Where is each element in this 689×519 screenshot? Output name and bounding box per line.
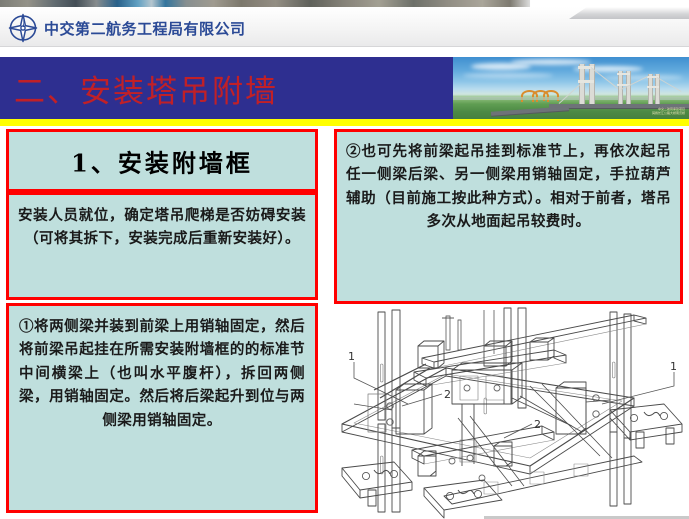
pylon-crossbeam <box>617 73 630 75</box>
company-header-band: 中交第二航务工程局有限公司 <box>0 7 689 47</box>
tower-crane-wall-attachment-diagram: 1 1 2 2 <box>334 306 689 519</box>
preparation-note-panel: 安装人员就位，确定塔吊爬梯是否妨碍安装（可将其拆下，安装完成后重新安装好）。 <box>6 192 318 300</box>
bridge-approach-road <box>491 106 569 115</box>
section-heading-panel: 1、安装附墙框 <box>6 129 318 192</box>
suspension-bridge-photo: 中交二航局承建项目 润扬长江公路大桥南汊桥 <box>453 57 689 119</box>
cloud <box>463 73 553 78</box>
header-divider <box>0 46 689 47</box>
slide-content-area: 1、安装附墙框 安装人员就位，确定塔吊爬梯是否妨碍安装（可将其拆下，安装完成后重… <box>0 126 689 519</box>
slide-title-band: 二、安装塔吊附墙 中交二航局承建项目 <box>0 57 689 119</box>
main-cable <box>559 84 580 103</box>
pylon-crossbeam <box>647 86 659 88</box>
thumbnail-strip-shade <box>0 0 530 7</box>
page-title: 二、安装塔吊附墙 <box>14 66 278 111</box>
section-heading-text: 1、安装附墙框 <box>9 143 315 178</box>
compass-rose-logo-icon <box>8 13 38 43</box>
callout-1-right: 1 <box>670 360 677 373</box>
method-two-panel: ②也可先将前梁起吊挂到标准节上，再依次起吊任一侧梁后梁、另一侧梁用销轴固定，手拉… <box>334 129 683 304</box>
method-one-text: ①将两侧梁并装到前梁上用销轴固定，然后将前梁吊起挂在所需安装附墙框的的标准节中间… <box>19 315 305 432</box>
previous-slide-thumbnail-strip <box>0 0 689 7</box>
method-one-panel: ①将两侧梁并装到前梁上用销轴固定，然后将前梁吊起挂在所需安装附墙框的的标准节中间… <box>6 303 318 513</box>
company-name-label: 中交第二航务工程局有限公司 <box>44 18 246 39</box>
callout-2-left: 2 <box>444 388 451 401</box>
photo-caption: 中交二航局承建项目 润扬长江公路大桥南汊桥 <box>623 107 685 115</box>
yellow-accent-strip <box>0 119 689 126</box>
shoreline <box>453 97 689 100</box>
bridge-pylon <box>648 74 653 104</box>
method-two-text: ②也可先将前梁起吊挂到标准节上，再依次起吊任一侧梁后梁、另一侧梁用销轴固定，手拉… <box>346 140 671 234</box>
callout-2-center: 2 <box>534 418 541 431</box>
preparation-note-text: 安装人员就位，确定塔吊爬梯是否妨碍安装（可将其拆下，安装完成后重新安装好）。 <box>18 204 306 251</box>
pylon-crossbeam <box>578 80 594 83</box>
bridge-pylon <box>626 71 631 104</box>
header-fold-decoration <box>569 7 689 19</box>
callout-1-left: 1 <box>348 350 355 363</box>
